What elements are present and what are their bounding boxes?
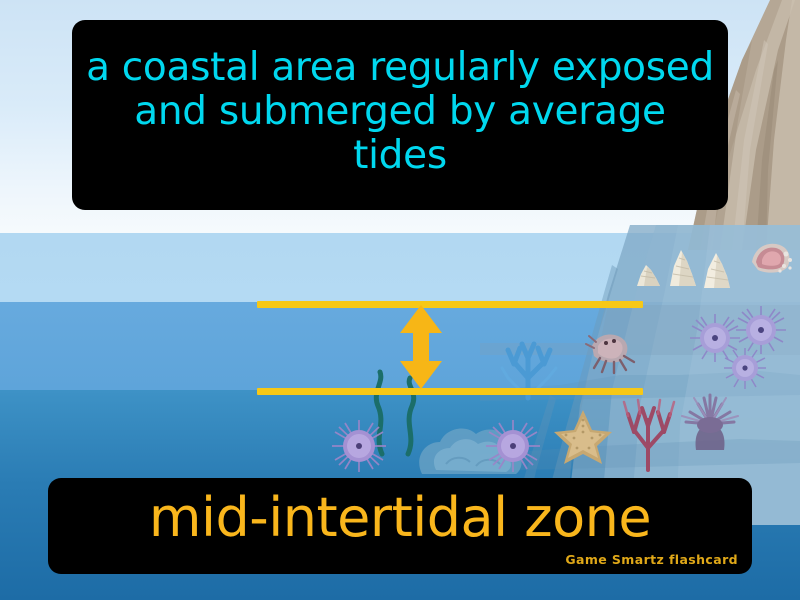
sea-urchin-blue-lower xyxy=(722,346,768,390)
term-text: mid-intertidal zone xyxy=(48,481,752,545)
definition-box: a coastal area regularly exposed and sub… xyxy=(72,20,728,210)
low-tide-line xyxy=(257,388,643,395)
term-box: mid-intertidal zone Game Smartz flashcar… xyxy=(48,478,752,574)
high-tide-line xyxy=(257,301,643,308)
starfish xyxy=(552,408,614,466)
periwinkle-snail-small xyxy=(634,262,664,288)
tidal-range-arrow xyxy=(398,305,444,389)
watermark: Game Smartz flashcard xyxy=(565,552,738,567)
sea-anemone xyxy=(680,392,740,450)
sea-urchin-purple-left xyxy=(330,418,388,474)
conch-shell xyxy=(750,240,794,276)
red-coral xyxy=(620,398,680,470)
definition-text: a coastal area regularly exposed and sub… xyxy=(86,46,714,177)
periwinkle-snail-large xyxy=(700,252,734,290)
flashcard: a coastal area regularly exposed and sub… xyxy=(0,0,800,600)
sea-urchin-purple-right xyxy=(484,418,542,474)
hermit-crab xyxy=(586,328,642,374)
periwinkle-snail-medium xyxy=(666,248,700,288)
